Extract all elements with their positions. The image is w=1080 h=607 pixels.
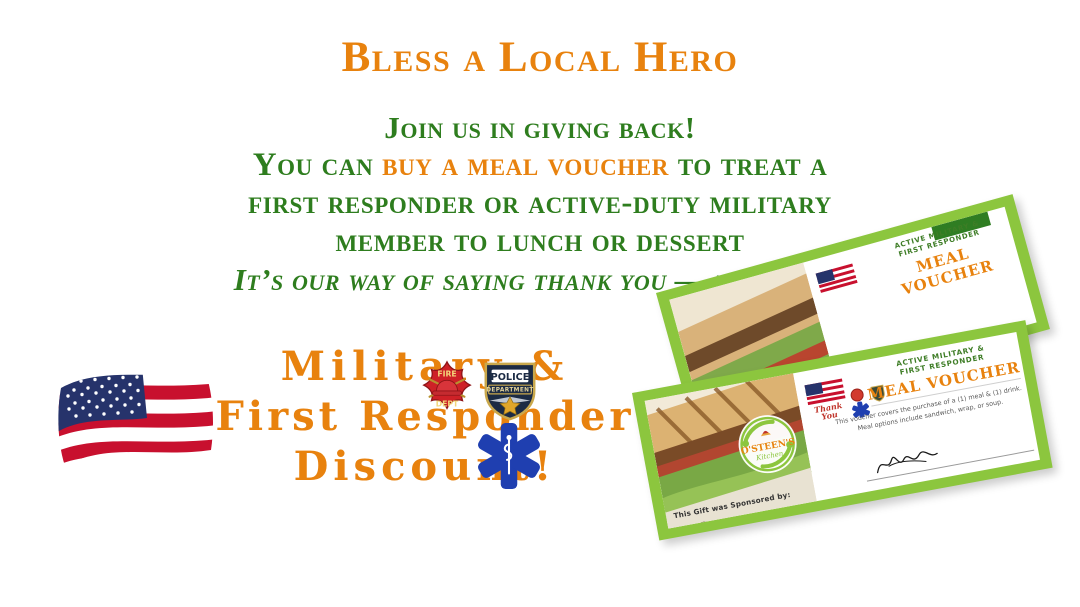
police-department-badge-icon: POLICE DEPARTMENT	[480, 358, 540, 427]
body-line-3: first responder or active-duty military	[0, 184, 1080, 222]
police-badge-bottom-label: DEPARTMENT	[486, 388, 534, 394]
voucher-front-content: Thank You	[797, 332, 1040, 500]
fire-badge-bottom-label: DEPT	[436, 399, 459, 408]
fire-department-badge-icon: FIRE DEPT	[418, 360, 476, 423]
body-line-2-post: to treat a	[669, 147, 827, 183]
body-line-1: Join us in giving back!	[0, 110, 1080, 146]
star-of-life-icon	[475, 422, 543, 495]
discount-artwork: Military & First Responder Discount! FIR…	[40, 350, 620, 570]
voucher-back-flag-icon	[814, 261, 859, 295]
poster-canvas: Bless a Local Hero Join us in giving bac…	[0, 0, 1080, 607]
police-badge-top-label: POLICE	[491, 372, 530, 383]
osteens-kitchen-logo: O'STEEN'S Kitchen	[732, 408, 804, 480]
fire-badge-top-label: FIRE	[437, 369, 456, 378]
body-line-2-highlight: buy a meal voucher	[382, 147, 669, 183]
page-title: Bless a Local Hero	[0, 36, 1080, 79]
meal-voucher-artwork: ACTIVE MILITARY & FIRST RESPONDER MEAL V…	[620, 285, 1080, 600]
body-line-2: You can buy a meal voucher to treat a	[0, 146, 1080, 184]
american-flag-icon	[55, 362, 225, 482]
discount-line-3: Discount!	[215, 442, 635, 492]
body-line-2-pre: You can	[253, 147, 382, 183]
